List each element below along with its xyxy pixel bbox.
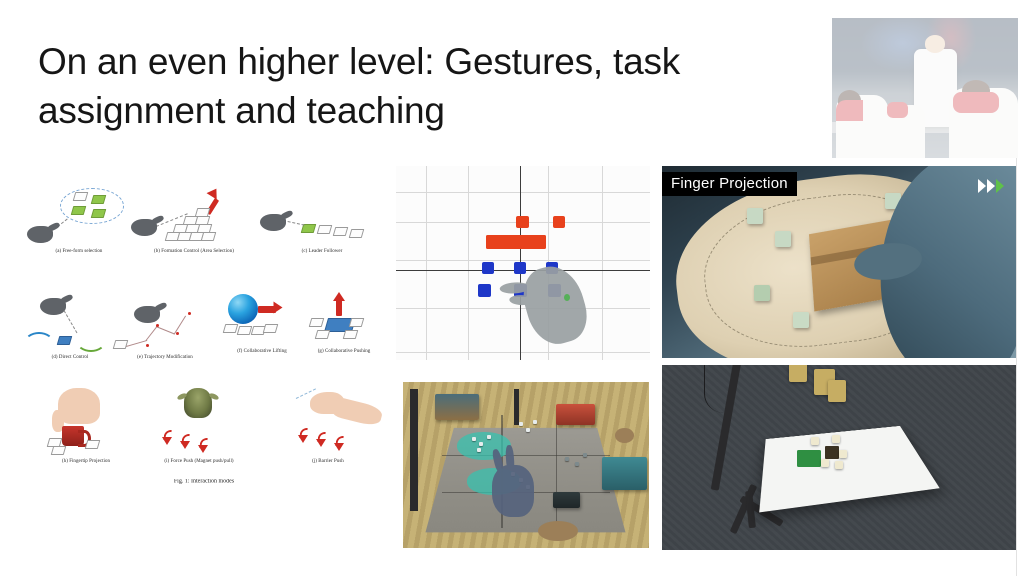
- red-marker: [516, 216, 529, 228]
- fp-robot: [754, 285, 770, 301]
- figure-art-barrier-push: [268, 388, 388, 458]
- robot-box: [73, 192, 89, 201]
- grid-line: [396, 352, 650, 353]
- force-arrow: [334, 436, 345, 451]
- red-arrow-head: [333, 292, 345, 301]
- figure-art-leader-follower: [256, 186, 388, 248]
- figure-cell-c: (c) Leader Follower: [256, 186, 388, 253]
- robot-box: [349, 318, 365, 327]
- selection-area: [457, 432, 511, 460]
- fast-forward-icon[interactable]: [978, 179, 1004, 193]
- human-forearm: [332, 396, 383, 427]
- swarm-robot: [575, 462, 579, 466]
- grid-line: [396, 308, 650, 309]
- figure-caption: (e) Trajectory Modification: [93, 353, 237, 359]
- robot-box: [195, 208, 211, 217]
- robot-box: [57, 336, 73, 345]
- figure-cell-j: (j) Barrier Push: [268, 388, 388, 463]
- swarm-robot: [583, 453, 587, 457]
- projected-green-zone: [797, 450, 822, 467]
- swarm-robot: [526, 428, 530, 432]
- hand-silhouette-icon: [40, 298, 66, 315]
- force-arrow: [162, 430, 173, 445]
- thumbnail-fade-overlay: [832, 18, 1018, 158]
- grid-line: [468, 166, 469, 360]
- blue-robot: [514, 262, 526, 274]
- figure-caption: (g) Collaborative Pushing: [285, 347, 403, 353]
- fingertip-highlight: [564, 294, 570, 301]
- swarm-robot: [472, 437, 476, 441]
- game-crate: [435, 394, 479, 421]
- mini-robot: [835, 461, 843, 469]
- grid-line: [396, 192, 650, 193]
- hand-silhouette-icon: [260, 214, 286, 231]
- yoda-figure: [184, 388, 212, 418]
- game-crate: [553, 492, 580, 509]
- robot-box: [349, 229, 365, 238]
- red-arrow-head: [274, 302, 283, 314]
- red-arrow-head: [207, 186, 222, 200]
- human-hand: [58, 388, 100, 424]
- blue-robot: [478, 284, 491, 297]
- robot-box: [263, 324, 279, 333]
- fp-robot: [775, 231, 791, 247]
- force-arrow: [198, 438, 209, 453]
- robot-box: [195, 216, 211, 225]
- lab-cable: [704, 365, 755, 413]
- right-edge-divider: [1016, 148, 1017, 576]
- game-scaffold: [410, 389, 417, 512]
- figure-cell-h: (h) Fingertip Projection: [28, 388, 144, 463]
- page-title: On an even higher level: Gestures, task …: [38, 38, 818, 136]
- robot-box: [91, 209, 107, 218]
- game-crate: [602, 457, 646, 490]
- game-swarm-simulation[interactable]: [403, 382, 649, 548]
- robot-box: [333, 227, 349, 236]
- swarm-robot: [565, 457, 569, 461]
- robot-box: [91, 195, 107, 204]
- force-arrow: [180, 434, 191, 449]
- hand-silhouette-icon: [134, 306, 160, 323]
- mini-robot: [832, 435, 840, 443]
- robot-box: [113, 340, 129, 349]
- figure-cell-g: (g) Collaborative Pushing: [294, 286, 394, 353]
- finger-projection-video[interactable]: Finger Projection: [662, 166, 1016, 358]
- figure-cell-a: (a) Free-form selection: [20, 186, 138, 253]
- robot-box: [197, 224, 213, 233]
- mini-robot: [811, 437, 819, 445]
- finger-projection-label: Finger Projection: [662, 172, 797, 196]
- robot-box: [309, 318, 325, 327]
- game-scaffold: [514, 389, 519, 426]
- robot-box: [51, 446, 67, 455]
- mini-robot: [821, 459, 829, 467]
- game-crate: [556, 404, 595, 426]
- slide-canvas: On an even higher level: Gestures, task …: [0, 0, 1024, 576]
- rotate-arrow-right: [76, 330, 106, 352]
- grid-line: [396, 260, 650, 261]
- payload-sphere: [228, 294, 258, 324]
- robot-box: [71, 206, 87, 215]
- red-bar: [486, 235, 546, 249]
- waypoint-dot: [176, 332, 179, 335]
- robot-box: [223, 324, 239, 333]
- robot-box: [343, 330, 359, 339]
- robot-box: [85, 440, 101, 449]
- figure-art-collaborative-pushing: [294, 286, 394, 348]
- red-arrow-shaft: [336, 300, 342, 316]
- figure-art-force-push: [128, 388, 270, 458]
- figure-cell-i: (i) Force Push (Magnet push/pull): [128, 388, 270, 463]
- pointer-ray: [64, 310, 78, 333]
- rotate-arrow-left: [24, 332, 54, 354]
- kitchen-show-thumbnail[interactable]: [832, 18, 1018, 158]
- waypoint-dot: [188, 312, 191, 315]
- pointer-ray: [283, 220, 305, 226]
- swarm-robot: [487, 435, 491, 439]
- trajectory-segment: [146, 326, 158, 341]
- projector-rig: [828, 380, 846, 402]
- figure-art-fingertip-projection: [28, 388, 144, 458]
- figure-caption: (c) Leader Follower: [244, 247, 400, 253]
- figure-number-caption: Fig. 1: Interaction modes: [0, 479, 427, 485]
- grid-line: [426, 166, 427, 360]
- hand-silhouette-icon: [131, 219, 157, 236]
- vr-grid-simulation[interactable]: [396, 166, 650, 360]
- mini-robot: [839, 450, 847, 458]
- robot-box: [315, 330, 331, 339]
- swarm-robot: [479, 442, 483, 446]
- force-arrow: [298, 428, 309, 443]
- interaction-modes-figure: (a) Free-form selection (b) Formation Co…: [18, 182, 390, 500]
- selection-lasso: [60, 188, 124, 224]
- waypoint-dot: [146, 344, 149, 347]
- figure-art-free-form-selection: [20, 186, 138, 248]
- board-marker: [825, 446, 839, 459]
- robot-box: [201, 232, 217, 241]
- trajectory-segment: [126, 340, 147, 347]
- pad-grid-line: [556, 415, 557, 528]
- hand-silhouette-icon: [27, 226, 53, 243]
- game-hand-cursor[interactable]: [492, 465, 534, 517]
- figure-art-formation-control: [126, 186, 262, 248]
- fp-robot: [747, 208, 763, 224]
- red-marker: [553, 216, 565, 228]
- force-arrow: [316, 432, 327, 447]
- swarm-robot: [533, 420, 537, 424]
- swarm-robot: [477, 448, 481, 452]
- projector-rig: [789, 365, 807, 382]
- robot-box: [317, 225, 333, 234]
- figure-cell-b: (b) Formation Control (Area Selection): [126, 186, 262, 253]
- red-mug: [62, 426, 84, 446]
- blue-robot: [482, 262, 494, 274]
- fp-robot: [793, 312, 809, 328]
- figure-caption: (j) Barrier Push: [257, 457, 399, 463]
- lab-projection-setup[interactable]: [662, 365, 1016, 550]
- grid-line: [602, 166, 603, 360]
- trajectory-segment: [156, 326, 175, 334]
- swarm-robot: [519, 422, 523, 426]
